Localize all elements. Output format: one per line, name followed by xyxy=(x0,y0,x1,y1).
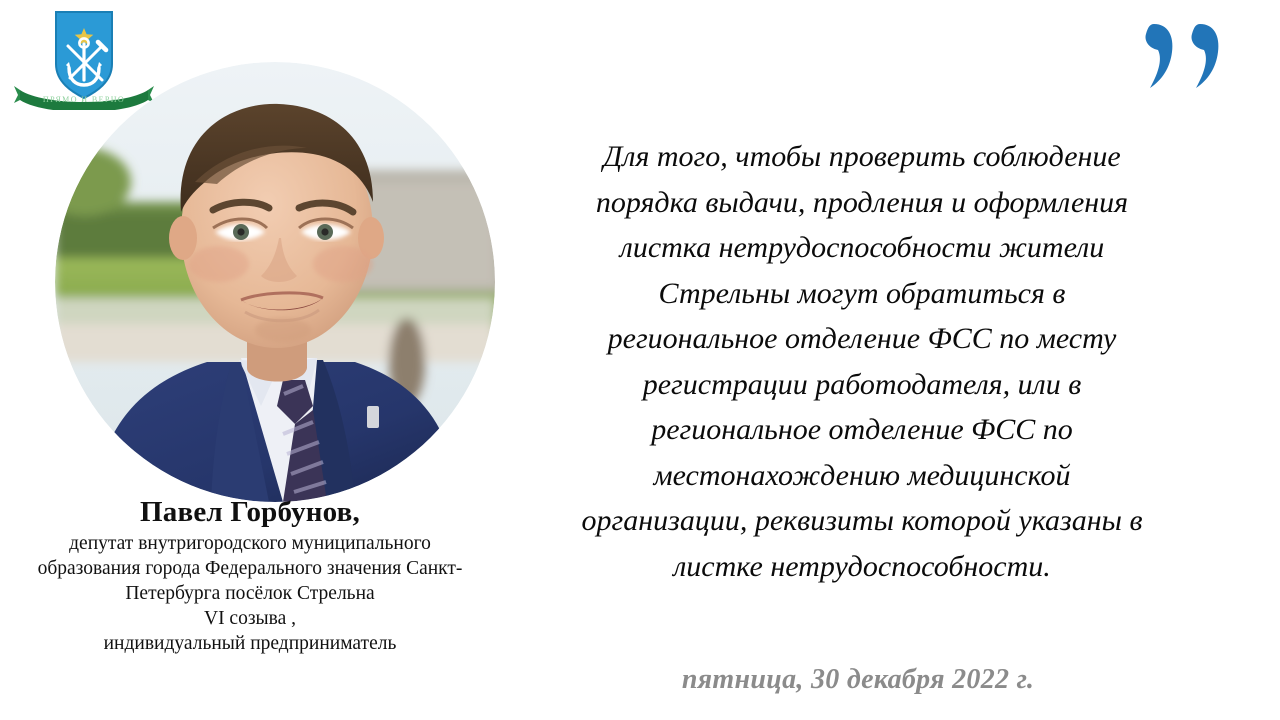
quote-text: Для того, чтобы проверить соблюдение пор… xyxy=(508,134,1216,589)
speaker-description-line: VI созыва , xyxy=(0,607,500,632)
quote-line: регистрации работодателя, или в xyxy=(508,362,1216,408)
speaker-description-line: депутат внутригородского муниципального xyxy=(0,532,500,557)
speaker-description-line: индивидуальный предприниматель xyxy=(0,632,500,657)
quote-line: региональное отделение ФСС по месту xyxy=(508,316,1216,362)
quote-line: организации, реквизиты которой указаны в xyxy=(508,498,1216,544)
quote-line: Стрельны могут обратиться в xyxy=(508,271,1216,317)
quotation-mark-icon xyxy=(1138,18,1234,98)
speaker-block: Павел Горбунов, депутат внутригородского… xyxy=(0,494,500,657)
quote-line: региональное отделение ФСС по xyxy=(508,407,1216,453)
emblem-motto-text: ПРЯМО И ВЕРНО xyxy=(43,95,125,104)
portrait-photo xyxy=(55,62,495,502)
speaker-description-line: Петербурга посёлок Стрельна xyxy=(0,582,500,607)
quote-line: местонахождению медицинской xyxy=(508,453,1216,499)
slide-canvas: ПРЯМО И ВЕРНО xyxy=(0,0,1280,720)
slide-date: пятница, 30 декабря 2022 г. xyxy=(508,664,1208,696)
coat-of-arms-emblem: ПРЯМО И ВЕРНО xyxy=(14,6,154,110)
quote-line: листке нетрудоспособности. xyxy=(508,544,1216,590)
speaker-name: Павел Горбунов, xyxy=(0,494,500,530)
speaker-description-line: образования города Федерального значения… xyxy=(0,557,500,582)
quote-line: порядка выдачи, продления и оформления xyxy=(508,180,1216,226)
quote-line: Для того, чтобы проверить соблюдение xyxy=(508,134,1216,180)
quote-line: листка нетрудоспособности жители xyxy=(508,225,1216,271)
speaker-description: депутат внутригородского муниципального … xyxy=(0,532,500,657)
